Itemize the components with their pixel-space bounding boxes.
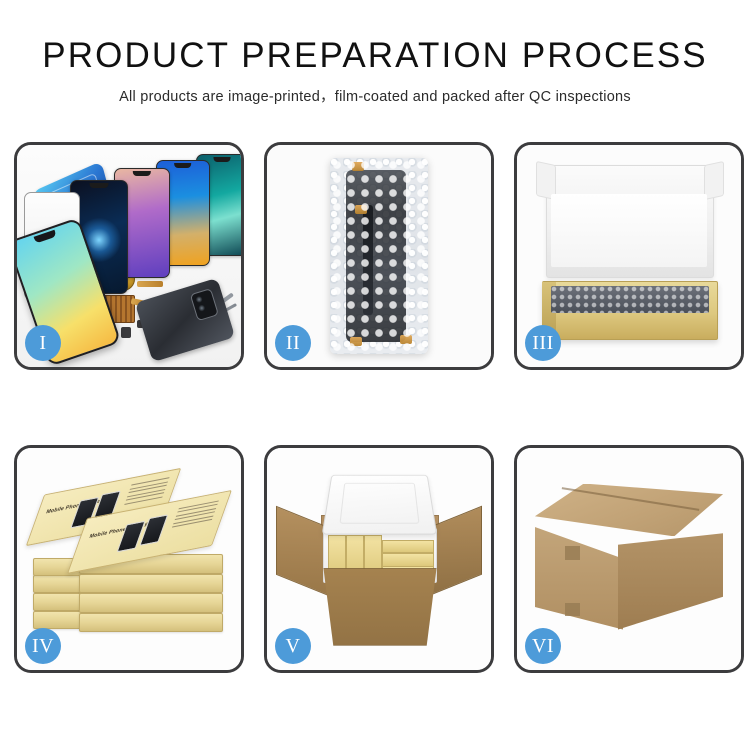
page-title: PRODUCT PREPARATION PROCESS [0,38,750,75]
step-badge-1: I [25,325,61,361]
sealed-shipping-carton [535,484,723,639]
step-badge-6: VI [525,628,561,664]
process-step-grid: I II [14,142,745,673]
yellow-box-5 [382,553,433,567]
process-step-card-6[interactable]: VI [514,445,744,673]
process-step-card-3[interactable]: III [514,142,744,370]
retail-box-stack: Mobile Phone Spare Parts Mobile Phone Sp… [33,472,226,650]
foam-sheet [551,194,708,267]
yellow-box-4 [382,540,433,554]
step-badge-5: V [275,628,311,664]
carton-front-wall [319,568,442,645]
process-step-card-2[interactable]: II [264,142,494,370]
box-screen-image-4 [139,515,168,547]
header: PRODUCT PREPARATION PROCESS All products… [0,0,750,106]
process-step-card-1[interactable]: I [14,142,244,370]
bubble-texture-overlay [330,158,428,354]
kraft-inner-box [542,281,719,341]
carton-right-face [618,533,723,629]
carton-tape-patch-top [565,546,580,560]
stacked-box-side-8 [79,613,224,633]
process-step-card-4[interactable]: Mobile Phone Spare Parts Mobile Phone Sp… [14,445,244,673]
page-subtitle: All products are image-printed，film-coat… [0,85,750,106]
stacked-box-side-6 [79,574,224,594]
step-badge-3: III [525,325,561,361]
step-badge-4: IV [25,628,61,664]
box-spec-lines-front [167,501,219,543]
lid-flap-right [704,161,724,201]
product-preparation-infographic: PRODUCT PREPARATION PROCESS All products… [0,0,750,750]
bubble-wrapped-contents [551,286,708,313]
carton-tape-patch-bottom [565,603,580,615]
part-strip-5 [121,327,131,338]
step-badge-2: II [275,325,311,361]
stacked-box-side-7 [79,593,224,613]
camera-module-icon [189,289,218,322]
foam-box-lid [322,475,438,535]
process-step-card-5[interactable]: V [264,445,494,673]
flex-cable-icon-1 [137,281,163,287]
bubble-wrap-bag [330,158,428,354]
